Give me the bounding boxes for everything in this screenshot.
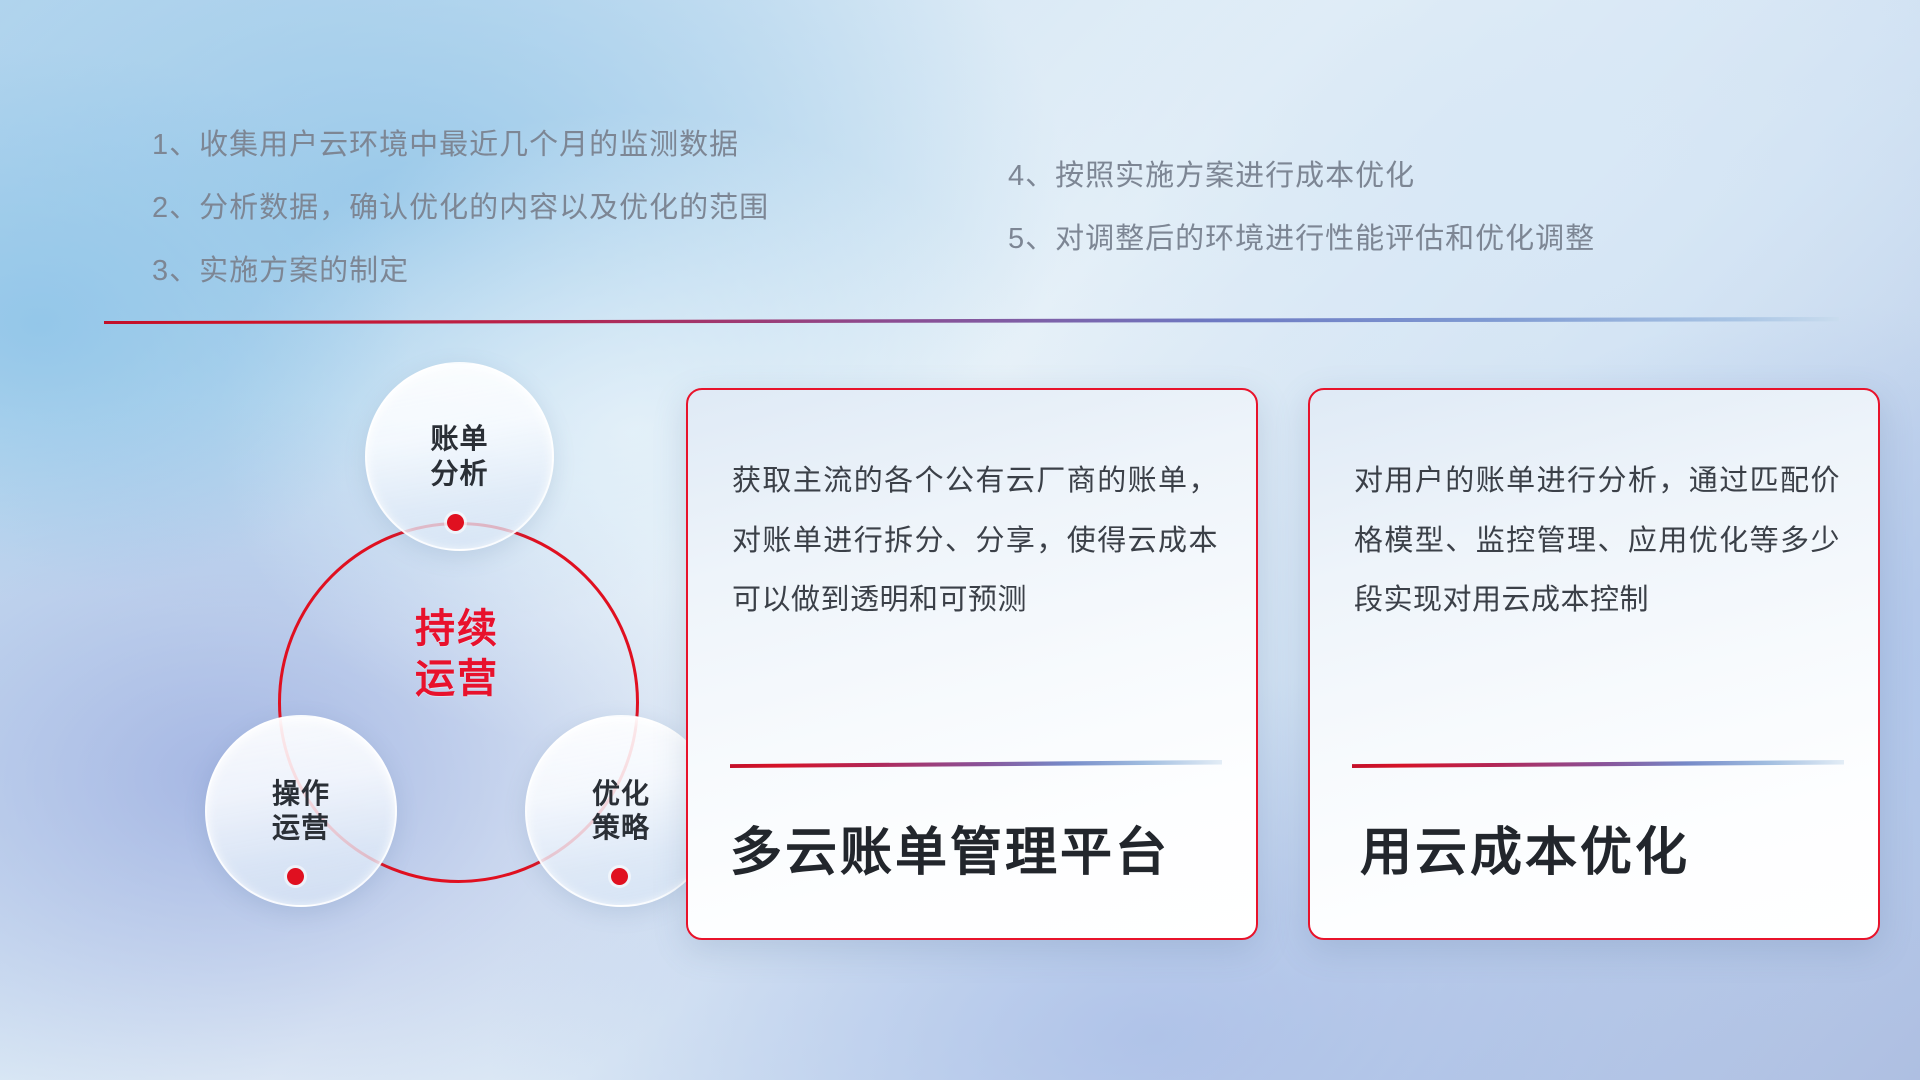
card-body-text: 对用户的账单进行分析，通过匹配价格模型、监控管理、应用优化等多少段实现对用云成本… [1354,452,1840,631]
process-step-3: 3、实施方案的制定 [152,247,409,289]
bubble-operations-label: 操作运营 [272,777,330,845]
bubble-bill-analysis-label: 账单分析 [430,422,488,490]
card-cloud-cost-optimization[interactable]: 对用户的账单进行分析，通过匹配价格模型、监控管理、应用优化等多少段实现对用云成本… [1308,388,1880,940]
diagram-center-label: 持续运营 [342,605,572,704]
card-divider [1352,760,1844,769]
node-dot-bottom-right-icon [611,868,628,885]
process-step-1: 1、收集用户云环境中最近几个月的监测数据 [152,121,739,163]
node-dot-top-icon [447,514,464,531]
process-step-2: 2、分析数据，确认优化的内容以及优化的范围 [152,184,769,226]
process-step-4: 4、按照实施方案进行成本优化 [1008,152,1415,194]
feature-cards: 获取主流的各个公有云厂商的账单，对账单进行拆分、分享，使得云成本可以做到透明和可… [686,388,1876,948]
card-divider [730,760,1222,769]
process-step-5: 5、对调整后的环境进行性能评估和优化调整 [1008,215,1595,257]
section-divider [104,317,1839,326]
card-divider-bar [1352,760,1844,768]
continuous-operations-diagram: 账单分析 操作运营 优化策略 持续运营 [95,352,655,952]
card-title: 用云成本优化 [1360,822,1848,884]
divider-gradient-bar [104,317,1839,324]
card-body-text: 获取主流的各个公有云厂商的账单，对账单进行拆分、分享，使得云成本可以做到透明和可… [732,452,1218,631]
node-dot-bottom-left-icon [287,868,304,885]
card-divider-bar [730,760,1222,768]
card-multicloud-billing-platform[interactable]: 获取主流的各个公有云厂商的账单，对账单进行拆分、分享，使得云成本可以做到透明和可… [686,388,1258,940]
process-steps-list: 1、收集用户云环境中最近几个月的监测数据 2、分析数据，确认优化的内容以及优化的… [0,0,1920,300]
card-title: 多云账单管理平台 [730,822,1226,884]
bubble-optimization-strategy-label: 优化策略 [592,777,650,845]
